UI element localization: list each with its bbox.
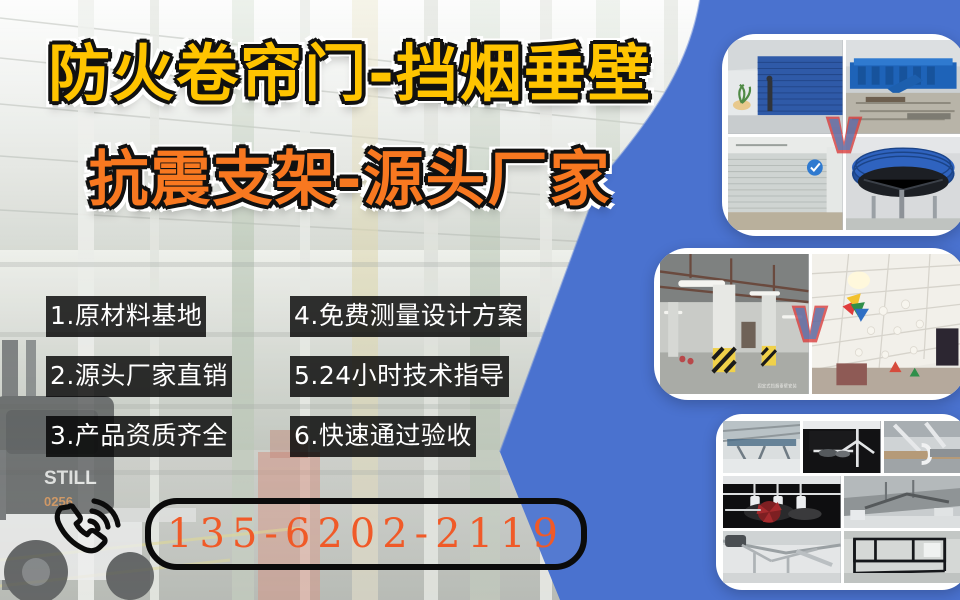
feature-item-label: 5.24小时技术指导 [290,356,509,397]
feature-list: 1.原材料基地 4.免费测量设计方案 2.源头厂家直销 5.24小时技术指导 3… [46,296,556,476]
photo-pipe-seismic-bracing [723,421,800,473]
feature-item: 6.快速通过验收 [290,416,560,476]
photo-ceiling-smoke-barrier-install [812,254,960,394]
photo-duct-support-bracket [803,421,880,473]
feature-item: 4.免费测量设计方案 [290,296,560,356]
feature-item-label: 1.原材料基地 [46,296,206,337]
headline-secondary: 抗震支架-源头厂家 [0,145,700,215]
photo-pipe-clamp-hanger [884,421,960,473]
feature-item: 5.24小时技术指导 [290,356,560,416]
phone-number-text: 135-6202-2119 [167,511,565,557]
photo-shutter-production-machine [846,40,960,134]
feature-item-label: 6.快速通过验收 [290,416,476,457]
photo-collage-fire-shutter [722,34,960,236]
photo-blue-shutter-roll-coil [846,137,960,231]
feature-item: 3.产品资质齐全 [46,416,286,476]
feature-item-label: 3.产品资质齐全 [46,416,232,457]
photo-ceiling-duct-bracing [844,476,960,528]
photo-steel-rolling-shutter-corridor [728,137,843,231]
photo-collage-seismic-bracket [716,414,960,590]
feature-item: 1.原材料基地 [46,296,286,356]
feature-item-label: 4.免费测量设计方案 [290,296,527,337]
advertisement-banner: STILL 0256 防火卷帘门-挡烟垂壁 抗震支架-源头厂家 1.原材料基地 … [0,0,960,600]
feature-item: 2.源头厂家直销 [46,356,286,416]
photo-fan-seismic-support [723,476,841,528]
photo-collage-smoke-barrier: 固定式挡烟垂壁安装 [654,248,960,400]
feature-item-label: 2.源头厂家直销 [46,356,232,397]
photo-basement-parking-structure: 固定式挡烟垂壁安装 [660,254,809,394]
phone-call-icon[interactable] [48,496,124,564]
photo-blue-rolling-shutter-door [728,40,843,134]
headline-primary: 防火卷帘门-挡烟垂壁 [0,38,700,110]
contact-row: 135-6202-2119 [40,492,580,568]
photo-frame-steel-structure [844,531,960,583]
photo-caption: 固定式挡烟垂壁安装 [758,382,798,389]
photo-cable-tray-bracket [723,531,841,583]
phone-number-box[interactable]: 135-6202-2119 [145,498,587,570]
